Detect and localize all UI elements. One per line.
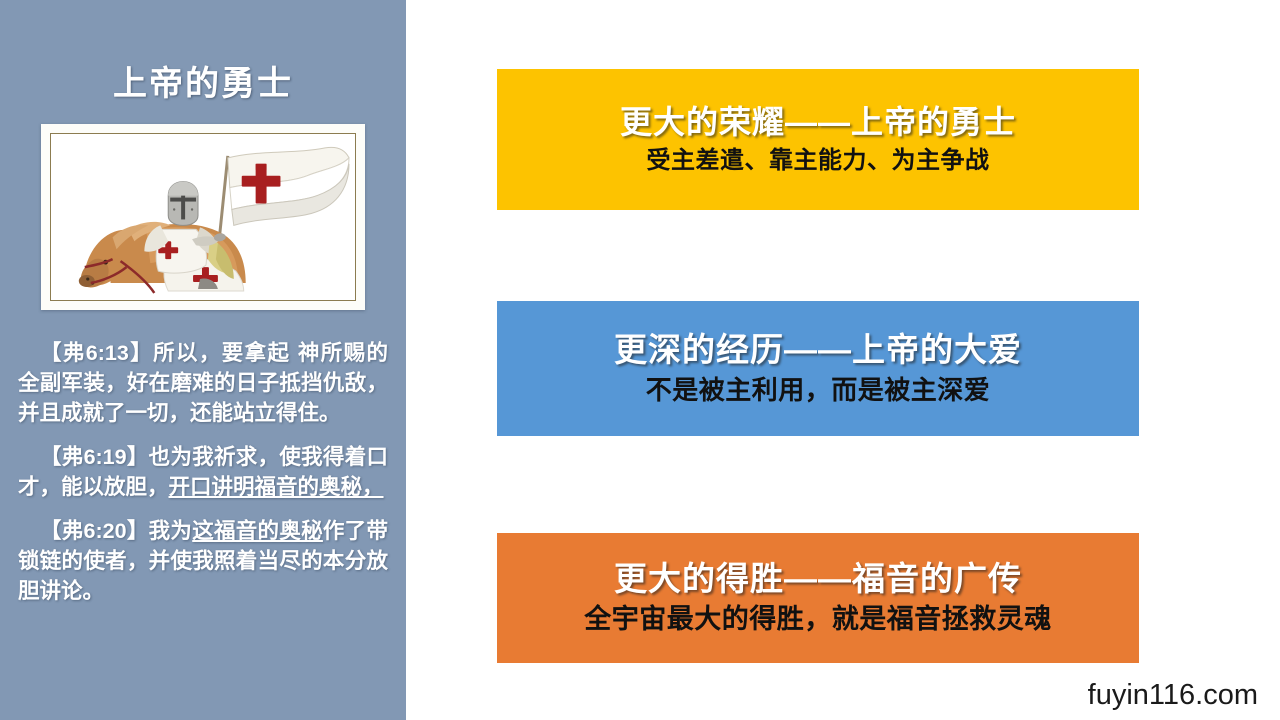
scripture-verse: 【弗6:20】我为这福音的奥秘作了带锁链的使者，并使我照着当尽的本分放胆讲论。 [8,516,398,606]
sidebar-panel: 上帝的勇士 [0,0,406,720]
scripture-list: 【弗6:13】所以，要拿起 神所赐的全副军装，好在磨难的日子抵挡仇敌，并且成就了… [8,338,398,620]
illustration-frame [41,124,365,310]
banner-subheading: 受主差遣、靠主能力、为主争战 [647,146,990,176]
presentation-slide: 上帝的勇士 [0,0,1280,720]
verse-underlined-text: 开口讲明福音的奥秘， [169,475,384,499]
scripture-verse: 【弗6:19】也为我祈求，使我得着口才，能以放胆，开口讲明福音的奥秘， [8,442,398,502]
verse-text: 【弗6:20】我为 [40,519,192,543]
banner-subheading: 全宇宙最大的得胜，就是福音拯救灵魂 [584,603,1052,637]
banner-greater-glory: 更大的荣耀——上帝的勇士 受主差遣、靠主能力、为主争战 [497,69,1139,210]
banner-greater-victory: 更大的得胜——福音的广传 全宇宙最大的得胜，就是福音拯救灵魂 [497,533,1139,663]
verse-text: 【弗6:13】所以，要拿起 神所赐的全副军装，好在磨难的日子抵挡仇敌，并且成就了… [18,341,388,425]
banner-heading: 更深的经历——上帝的大爱 [614,330,1022,370]
banner-heading: 更大的得胜——福音的广传 [614,559,1022,599]
banner-heading: 更大的荣耀——上帝的勇士 [620,103,1016,141]
crusader-knight-icon [51,134,355,301]
banner-deeper-experience: 更深的经历——上帝的大爱 不是被主利用，而是被主深爱 [497,301,1139,436]
page-title: 上帝的勇士 [0,56,406,105]
banner-subheading: 不是被主利用，而是被主深爱 [646,374,991,407]
verse-underlined-text: 这福音的奥秘 [192,519,323,543]
scripture-verse: 【弗6:13】所以，要拿起 神所赐的全副军装，好在磨难的日子抵挡仇敌，并且成就了… [8,338,398,428]
illustration-inner-border [50,133,356,301]
site-watermark: fuyin116.com [1088,679,1258,712]
